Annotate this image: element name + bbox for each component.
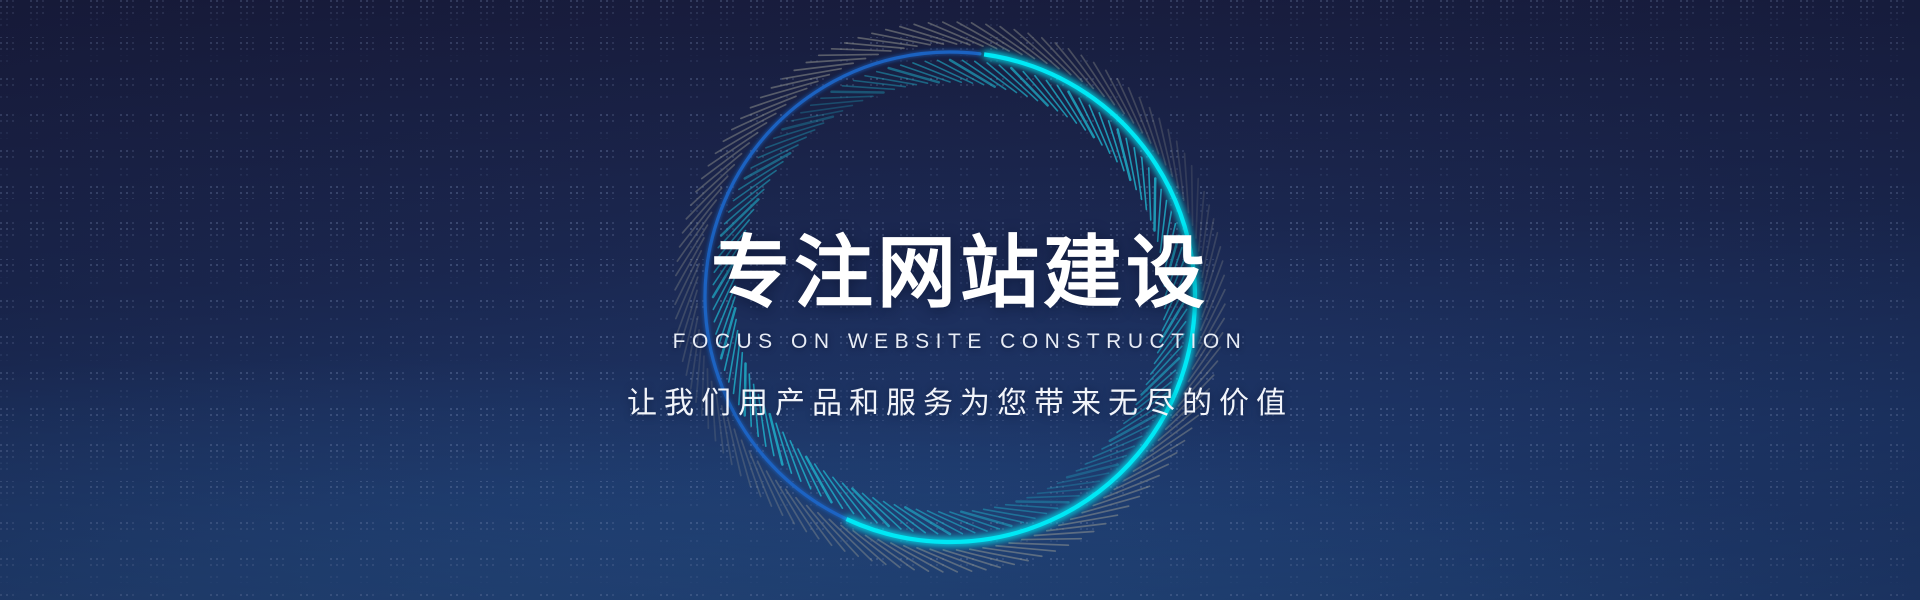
banner-copy: 专注网站建设 <box>0 234 1920 313</box>
banner-subtitle: FOCUS ON WEBSITE CONSTRUCTION <box>0 330 1920 354</box>
banner-tagline: 让我们用产品和服务为您带来无尽的价值 <box>0 378 1920 422</box>
banner-stage: 专注网站建设 FOCUS ON WEBSITE CONSTRUCTION 让我们… <box>0 0 1920 600</box>
page-title: 专注网站建设 <box>0 234 1920 313</box>
banner-tagline-wrap: 让我们用产品和服务为您带来无尽的价值 <box>0 378 1920 422</box>
banner-subline-wrap: FOCUS ON WEBSITE CONSTRUCTION <box>0 330 1920 354</box>
